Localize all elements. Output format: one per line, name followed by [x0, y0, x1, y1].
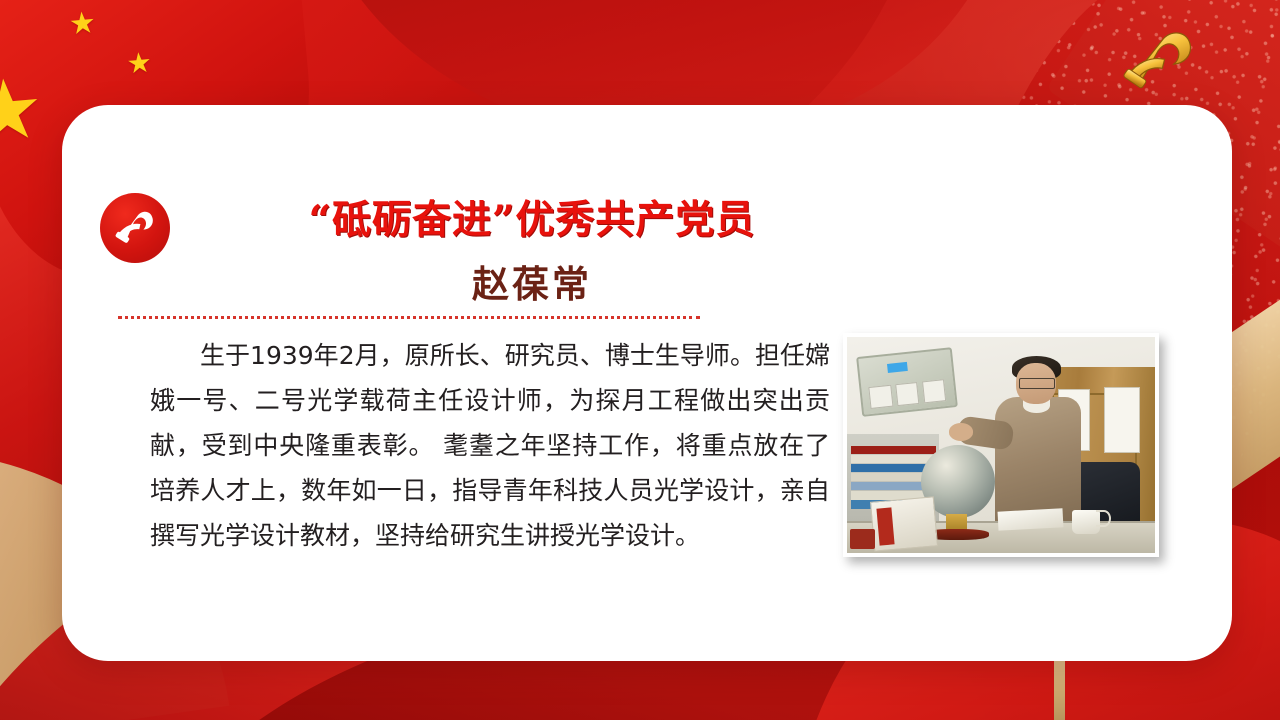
photo-notebook [997, 508, 1063, 531]
person-photo-frame [843, 333, 1159, 557]
party-badge-icon [100, 193, 170, 263]
photo-socket-1 [869, 385, 894, 409]
photo-red-mug [850, 529, 875, 548]
biography-paragraph: 生于1939年2月，原所长、研究员、博士生导师。担任嫦娥一号、二号光学载荷主任设… [150, 333, 830, 558]
photo-wall-panel [856, 347, 958, 417]
flag-star-large: ★ [0, 65, 47, 155]
photo-cup-handle [1096, 510, 1110, 527]
title-divider [118, 316, 700, 319]
photo-cup [1072, 510, 1100, 534]
photo-wall-paper-2 [1104, 387, 1140, 454]
photo-panel-led [887, 362, 908, 373]
content-card: “砥砺奋进”优秀共产党员 赵葆常 生于1939年2月，原所长、研究员、博士生导师… [62, 105, 1232, 661]
photo-book-2 [851, 455, 936, 463]
person-photo [847, 337, 1155, 553]
photo-book-1 [851, 446, 936, 454]
photo-socket-2 [896, 382, 921, 406]
photo-desk-card-red [876, 507, 895, 545]
flag-star-small-1: ★ [68, 8, 97, 40]
biography-text: 生于1939年2月，原所长、研究员、博士生导师。担任嫦娥一号、二号光学载荷主任设… [150, 333, 830, 558]
person-name: 赵葆常 [182, 254, 882, 308]
slide-root: ★ ★ ★ ★ ★ [0, 0, 1280, 720]
title-block: “砥砺奋进”优秀共产党员 赵葆常 [182, 189, 882, 308]
party-emblem-icon [1114, 26, 1202, 98]
photo-socket-3 [922, 379, 947, 403]
page-title: “砥砺奋进”优秀共产党员 [182, 189, 882, 245]
photo-person-hand [949, 423, 974, 440]
photo-person-glasses [1019, 378, 1055, 389]
flag-star-small-2: ★ [126, 48, 153, 78]
